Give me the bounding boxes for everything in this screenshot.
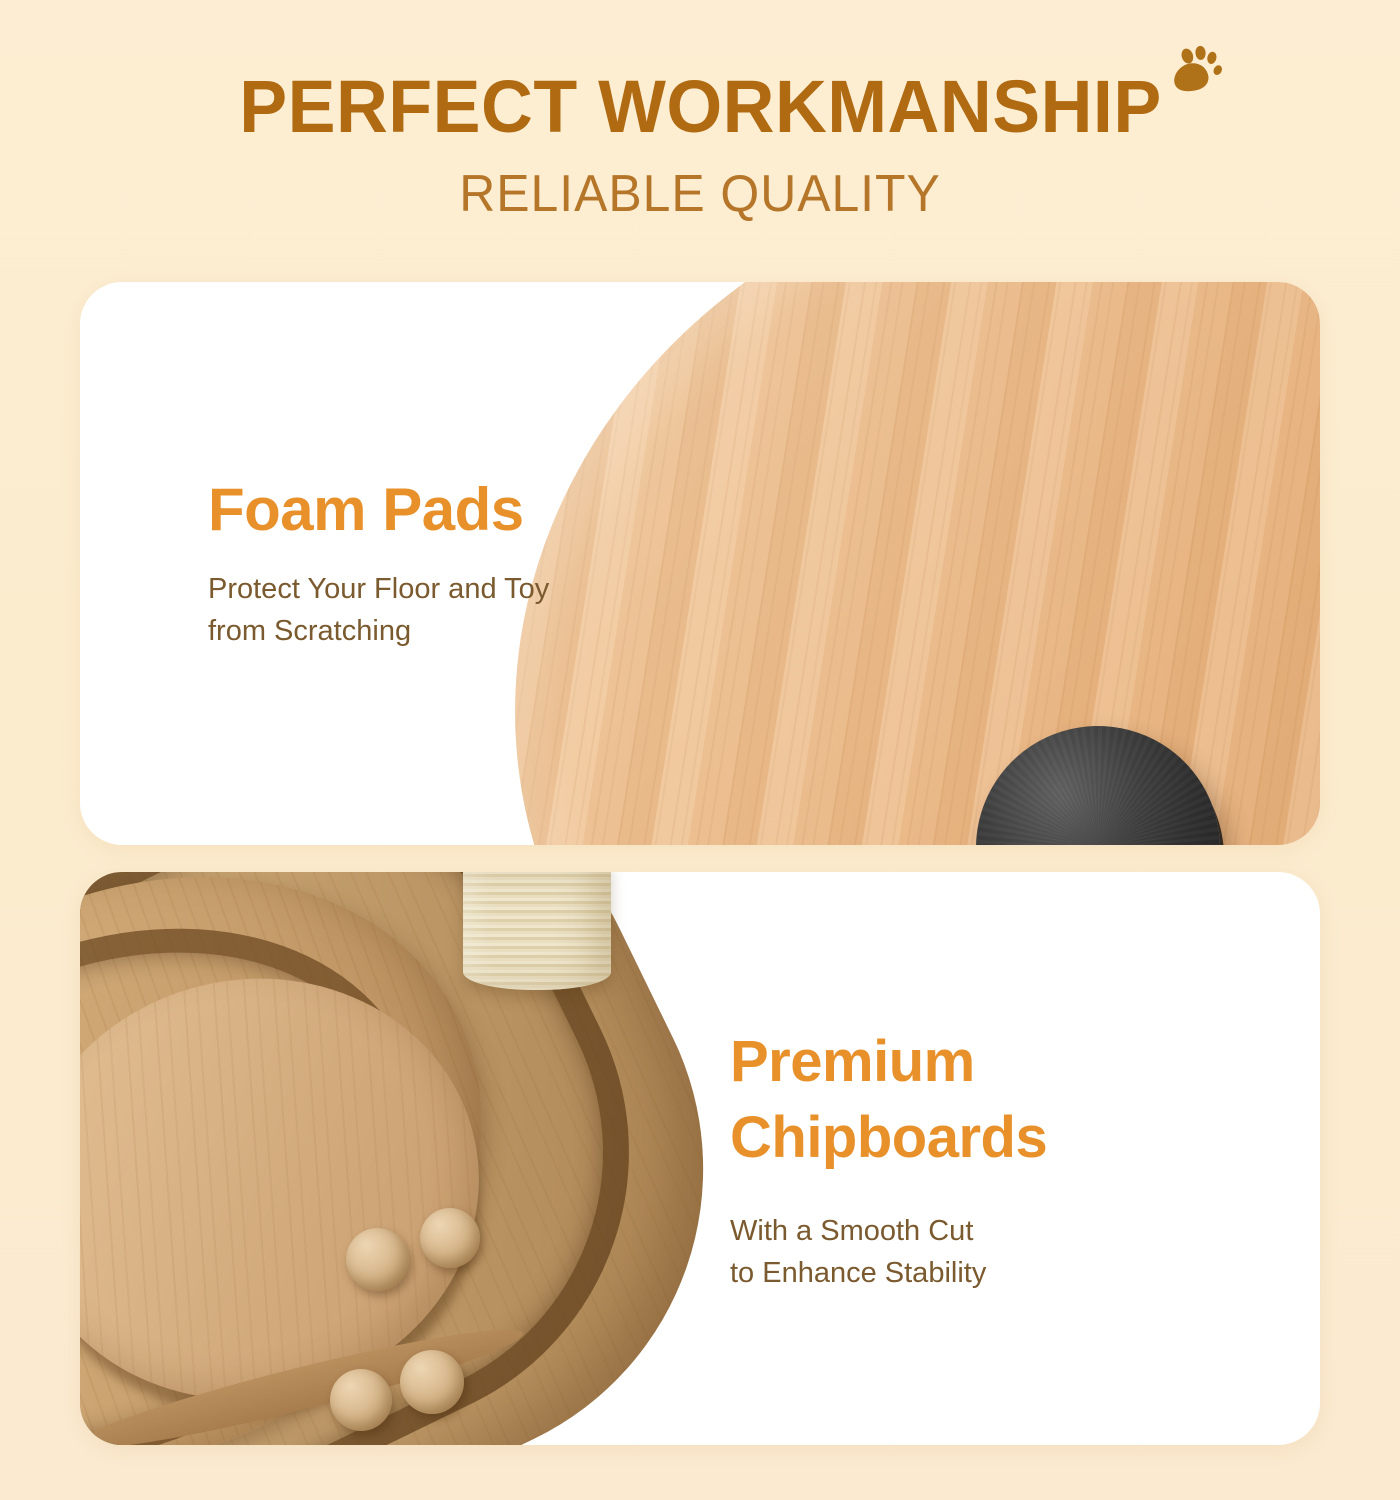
foam-pads-title: Foam Pads (208, 474, 678, 546)
premium-chipboards-copy: Premium Chipboards With a Smooth Cut to … (730, 1024, 1200, 1294)
page-background: PERFECT WORKMANSHIP RELIABLE QUALITY (0, 0, 1400, 1500)
premium-chipboards-title: Premium Chipboards (730, 1024, 1200, 1176)
cat-toy-turntable-base-photo (80, 872, 780, 1445)
premium-chipboards-description: With a Smooth Cut to Enhance Stability (730, 1210, 1200, 1294)
sisal-scratching-post (463, 872, 611, 990)
foam-pads-description: Protect Your Floor and Toy from Scratchi… (208, 568, 678, 652)
header: PERFECT WORKMANSHIP RELIABLE QUALITY (0, 0, 1400, 262)
feature-card-foam-pads: Foam Pads Protect Your Floor and Toy fro… (80, 282, 1320, 845)
feature-card-premium-chipboards: Premium Chipboards With a Smooth Cut to … (80, 872, 1320, 1445)
foam-pads-copy: Foam Pads Protect Your Floor and Toy fro… (208, 474, 678, 652)
page-title: PERFECT WORKMANSHIP (239, 64, 1161, 150)
paw-print-icon (1167, 42, 1225, 100)
page-subtitle: RELIABLE QUALITY (28, 163, 1372, 225)
